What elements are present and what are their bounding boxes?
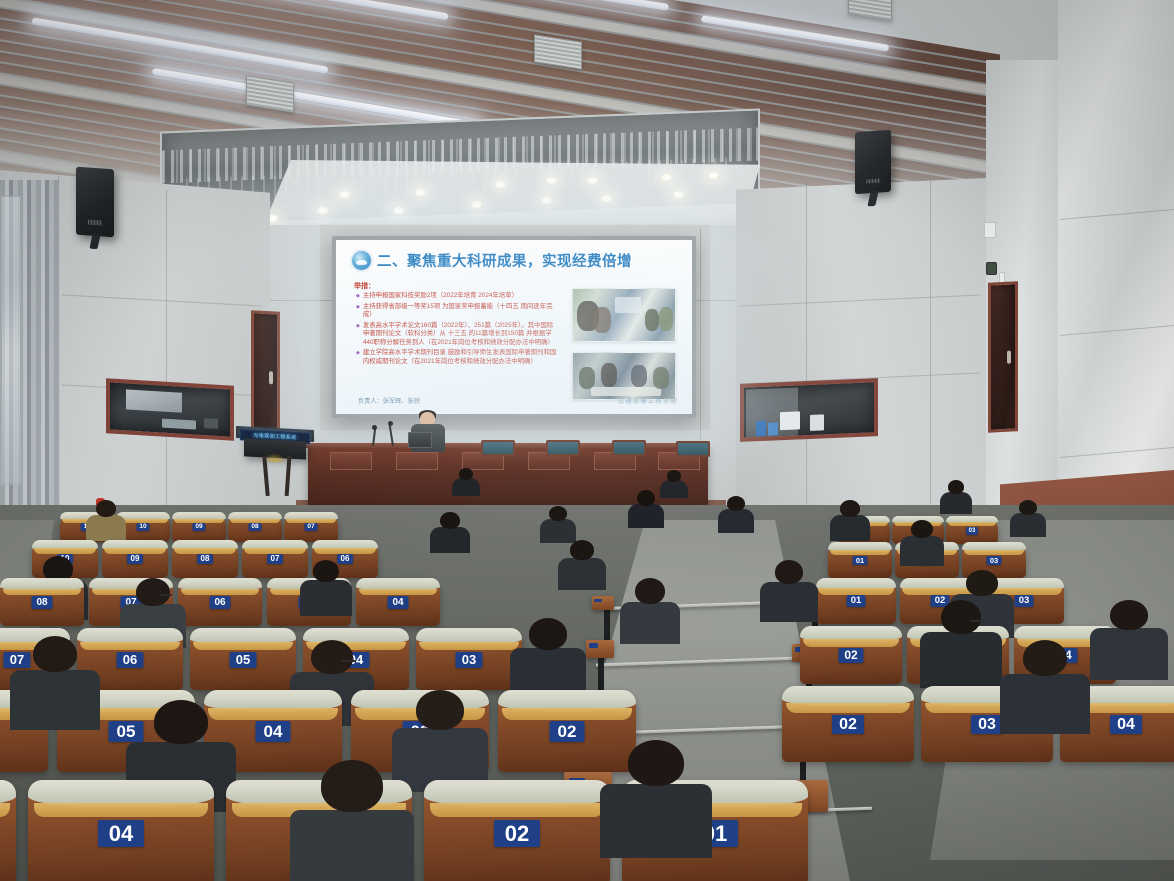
person-head [549,506,567,521]
window-box-3 [780,411,800,430]
seat[interactable]: 05 [190,628,296,690]
seat-gold-trim [948,522,997,526]
person-head [321,760,383,812]
audience-member [1010,500,1046,539]
microphone-head-icon-2 [372,425,377,430]
seat-number-badge: 02 [550,721,585,742]
seat-number-badge: 03 [1015,595,1034,607]
photo-figure [659,307,673,331]
seat-number-badge: 04 [1110,715,1142,734]
side-door-right[interactable] [988,281,1018,433]
person-shoulders [10,670,100,730]
table-front-panel [396,452,438,470]
seat[interactable]: 07 [242,540,308,578]
seat[interactable]: 01 [816,578,896,624]
audience-member [600,740,712,860]
seat-number-badge: 03 [971,715,1003,734]
seat-gold-trim [419,642,519,651]
bullet-text: 主持申报国家科技奖励2项（2022年培育 2024年培草） [363,292,558,300]
slide-bullet: ◆ 建立学院高水平学术期刊目录 鼓励和引导师生发表国际申著期刊和国内权威期刊论文… [356,349,558,366]
control-room-window-right [740,378,878,442]
person-head [459,468,473,480]
seat[interactable]: 04 [28,780,214,881]
downlight-6 [470,200,483,209]
eyeglasses-icon [970,620,984,622]
slide-bullet: ◆ 主持获得省部级一等奖15项 为国家奖申报蓄能（十四五 期间逐年完成） [356,303,558,320]
bullet-marker-icon: ◆ [356,303,360,320]
seat[interactable]: 07 [284,512,338,542]
audience-member [452,468,480,498]
side-door-left[interactable] [251,310,280,442]
person-shoulders [660,480,688,498]
person-shoulders [452,478,480,496]
person-head [1110,600,1148,630]
seat-number-badge: 05 [230,652,257,668]
right-wall-seam-2 [930,176,931,556]
right-wall-seam-1 [806,182,807,552]
seat[interactable]: 03 [946,516,998,544]
person-shoulders [760,582,818,622]
seat-number-badge: 04 [98,820,144,847]
person-head [911,520,933,538]
person-head [637,490,655,506]
audience-member [290,760,414,881]
seat-gold-trim [104,548,166,553]
slide-footer-organization: 交通运输工程学院 [618,396,678,405]
downlight-9 [586,176,599,185]
lecture-hall-photo: 二、聚焦重大科研成果，实现经费倍增 举措： ◆ 主持申报国家科技奖励2项（202… [0,0,1174,881]
seat[interactable]: 03 [416,628,522,690]
stage-chair [612,440,646,456]
downlight-13 [707,171,720,180]
door-handle-right[interactable] [1007,351,1011,364]
slide-title: 二、聚焦重大科研成果，实现经费倍增 [377,250,632,271]
seat[interactable]: 06 [178,578,262,626]
person-shoulders [1000,674,1090,734]
institution-logo-icon [352,251,371,270]
seat-number-badge: 08 [32,596,53,609]
seat-number-badge: 02 [839,648,864,663]
photo-screen [615,297,641,313]
seat-number-badge: 08 [249,523,262,531]
slide-photo-top [572,288,676,342]
seat-gold-trim [230,519,281,523]
seat-number-badge: 10 [137,523,150,531]
person-shoulders [940,492,972,514]
person-shoulders [600,784,712,858]
audience-member [628,490,664,530]
person-head [154,700,208,744]
stage-chair [546,440,580,456]
downlight-7 [494,180,507,189]
downlight-14 [545,176,558,185]
seat-tablet-tag [589,643,599,648]
person-head [1023,640,1067,676]
audience-member [1090,600,1168,682]
eyeglasses-icon [341,660,356,662]
photo-figure [601,363,617,387]
downlight-3 [338,190,351,199]
stage-chair [676,441,710,457]
person-shoulders [1090,628,1168,680]
left-window [0,195,22,485]
seat[interactable]: 09 [102,540,168,578]
slide-bullet: ◆ 主持申报国家科技奖励2项（2022年培育 2024年培草） [356,292,558,300]
person-shoulders [920,632,1002,688]
window-device [810,414,824,431]
seat-number-badge: 03 [987,556,1002,565]
seat-number-badge: 09 [127,554,143,564]
person-head [33,636,77,672]
seat-number-badge: 06 [117,652,144,668]
downlight-4 [392,206,405,215]
audience-member [900,520,944,568]
person-head [966,570,998,596]
seat-gold-trim [964,550,1024,555]
window-box-1 [756,421,766,436]
seat[interactable]: 04 [356,578,440,626]
seat-gold-trim [244,548,306,553]
speaker-brand-right [866,178,880,183]
audience-member [430,512,470,555]
bullet-text: 发表高水平学术论文160篇（2022年）、251篇（2025年）。其中国际申著期… [363,322,558,347]
downlight-11 [660,173,673,182]
audience-member [10,636,100,732]
photo-figure [645,309,659,331]
seat-tablet-tag [594,599,601,603]
door-handle-left[interactable] [269,371,273,384]
seat-gold-trim [803,639,899,647]
person-head [635,578,665,604]
photo-figure [653,367,669,389]
photo-figure [579,367,595,389]
bullet-text: 主持获得省部级一等奖15项 为国家奖申报蓄能（十四五 期间逐年完成） [363,303,558,320]
seat-gold-trim [359,589,438,596]
seat[interactable]: 09 [172,512,226,542]
audience-member [830,500,870,543]
window-object-left-2 [204,418,218,429]
seat-number-badge: 07 [267,554,283,564]
person-shoulders [290,810,414,881]
bullet-marker-icon: ◆ [356,292,360,300]
stage-chair [481,440,515,456]
person-head [313,560,339,582]
seat-gold-trim [174,548,236,553]
wall-outlet-right[interactable] [984,222,996,238]
person-shoulders [718,509,754,533]
seat-number-badge: 01 [847,595,866,607]
person-head [628,740,684,786]
person-head [440,512,460,529]
seat-number-badge: 01 [853,556,868,565]
wall-speaker-right [855,130,891,195]
eyeglasses-icon [160,594,172,596]
audience-member [300,560,352,618]
seat[interactable]: 08 [0,578,84,626]
presenter-laptop[interactable] [408,432,432,448]
downlight-8 [540,196,553,205]
person-head [667,470,681,482]
seat-number-badge: 08 [197,554,213,564]
audience-member [940,480,972,516]
downlight-12 [672,190,685,199]
person-head [311,640,353,674]
person-shoulders [620,602,680,644]
access-control-panel-right[interactable] [986,262,997,275]
seat-number-badge: 02 [494,820,540,847]
person-head [136,578,170,606]
seat-gold-trim [286,519,337,523]
audience-member [760,560,818,624]
seat-gold-trim [34,548,96,553]
person-shoulders [628,504,664,528]
seat-gold-trim [430,803,605,818]
photo-figure [631,365,647,387]
seat-writing-tablet[interactable] [586,640,614,658]
slide-subtitle: 举措： [354,281,375,291]
slide-bullet: ◆ 发表高水平学术论文160篇（2022年）、251篇（2025年）。其中国际申… [356,322,558,347]
seat-number-badge: 06 [210,596,231,609]
audience-member [620,578,680,646]
bullet-marker-icon: ◆ [356,322,360,347]
seat-gold-trim [502,708,632,719]
person-head [96,500,116,517]
seat-gold-trim [3,589,82,596]
bullet-marker-icon: ◆ [356,349,360,366]
seat-gold-trim [830,550,890,555]
person-head [775,560,803,584]
audience-member [660,470,688,500]
person-shoulders [830,515,870,541]
seat[interactable]: 01 [828,542,892,578]
wall-speaker-left [76,167,114,238]
speaker-brand-left [88,220,102,226]
bullet-text: 建立学院高水平学术期刊目录 鼓励和引导师生发表国际申著期刊和国内权威期刊论文（在… [363,349,558,366]
microphone-head-icon [388,421,393,426]
downlight-10 [600,194,613,203]
seat-number-badge: 03 [966,527,978,535]
audience-member [510,618,586,700]
seat-gold-trim [314,548,376,553]
person-head [1019,500,1037,515]
person-head [840,500,860,517]
seat[interactable]: 08 [228,512,282,542]
seat-writing-tablet[interactable] [592,596,614,610]
seat-support-leg [604,606,610,640]
projection-screen: 二、聚焦重大科研成果，实现经费倍增 举措： ◆ 主持申报国家科技奖励2项（202… [336,240,692,414]
seat-gold-trim [34,803,209,818]
person-head [570,540,594,560]
downlight-5 [414,188,427,197]
audience-member [86,500,126,543]
seat-gold-trim [181,589,260,596]
slide-photo-bottom [572,352,676,400]
slide-footer-owner: 负责人：张军辉、张锐 [358,396,420,405]
seat[interactable]: 02 [424,780,610,881]
seat-gold-trim [818,588,893,594]
person-head [727,496,745,511]
window-object-left-1 [162,419,196,430]
audience-member [920,600,1002,690]
seat-number-badge: 09 [193,523,206,531]
photo-table [591,387,661,396]
person-head [416,690,464,730]
slide-bullet-list: ◆ 主持申报国家科技奖励2项（2022年培育 2024年培草） ◆ 主持获得省部… [356,292,558,369]
seat-gold-trim [193,642,293,651]
seat-gold-trim [786,703,910,714]
seat-number-badge: 02 [832,715,864,734]
window-reflection-left [126,389,182,412]
audience-member [1000,640,1090,736]
seat[interactable]: 05 [0,780,16,881]
seat[interactable]: 02 [782,686,914,762]
person-head [941,600,981,634]
seat-number-badge: 04 [256,721,291,742]
seat-number-badge: 04 [388,596,409,609]
person-head [948,480,964,494]
person-shoulders [900,536,944,566]
person-shoulders [86,515,126,541]
seat[interactable]: 02 [800,626,902,684]
person-shoulders [430,527,470,553]
seat[interactable]: 08 [172,540,238,578]
seat-gold-trim [174,519,225,523]
person-head [529,618,567,650]
seat-number-badge: 07 [305,523,318,531]
seat-number-badge: 03 [456,652,483,668]
control-room-window-left [106,378,234,441]
audience-member [558,540,606,592]
window-box-2 [768,422,778,435]
projection-screen-frame: 二、聚焦重大科研成果，实现经费倍增 举措： ◆ 主持申报国家科技奖励2项（202… [332,236,696,418]
person-shoulders [558,558,606,590]
audience-member [718,496,754,535]
table-front-panel [330,452,372,470]
person-shoulders [1010,513,1046,537]
slide-title-row: 二、聚焦重大科研成果，实现经费倍增 [352,250,632,271]
downlight-2 [316,206,329,215]
person-shoulders [300,580,352,616]
left-wall-seam-2 [166,190,167,540]
photo-figure [593,307,611,333]
